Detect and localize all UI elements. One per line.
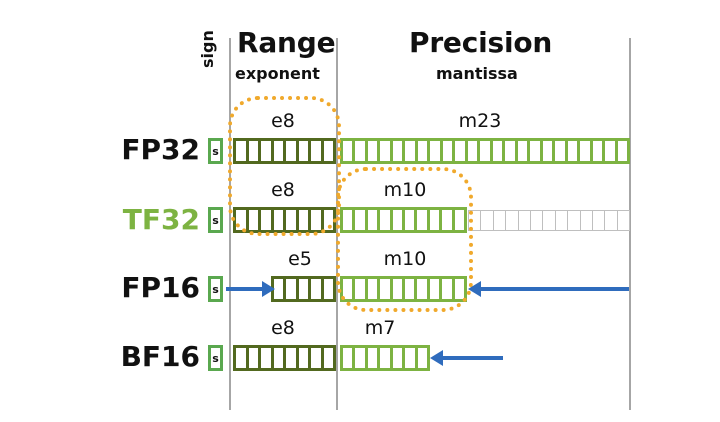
- bit-cell: [343, 348, 355, 368]
- bit-cell: [380, 210, 392, 230]
- sign-bit-fp16: s: [208, 276, 223, 302]
- bit-cell: [343, 210, 355, 230]
- bit-cell: [455, 141, 467, 161]
- sign-column-header: sign: [198, 12, 217, 68]
- mantissa-subheader: mantissa: [436, 64, 518, 83]
- bit-cell: [286, 279, 298, 299]
- mantissa-strip-bf16: [340, 345, 430, 371]
- bit-cell: [580, 141, 592, 161]
- bit-cell: [405, 348, 417, 368]
- row-label-tf32: TF32: [92, 203, 200, 236]
- sign-bit-bf16: s: [208, 345, 223, 371]
- field-label-tf32-exponent: e8: [233, 179, 333, 201]
- bit-cell: [368, 210, 380, 230]
- bit-cell: [274, 210, 287, 230]
- bit-cell: [299, 348, 312, 368]
- row-label-bf16: BF16: [92, 340, 200, 373]
- row-label-fp32: FP32: [92, 133, 200, 166]
- bit-cell: [324, 279, 336, 299]
- arrow-head-bf16-mantissa: [430, 350, 443, 366]
- bit-cell: [355, 141, 367, 161]
- bit-cell: [286, 348, 299, 368]
- bit-cell: [355, 279, 367, 299]
- bit-cell: [299, 279, 311, 299]
- bit-cell: [343, 141, 355, 161]
- bit-cell: [405, 141, 417, 161]
- bit-cell: [355, 210, 367, 230]
- bit-cell: [442, 210, 454, 230]
- field-label-tf32-mantissa: m10: [355, 179, 455, 201]
- bit-cell: [393, 210, 405, 230]
- bit-cell: [593, 141, 605, 161]
- column-divider-range-precision: [336, 38, 338, 410]
- bit-cell: [568, 211, 580, 230]
- bit-cell: [618, 141, 630, 161]
- field-label-fp16-exponent: e5: [250, 248, 350, 270]
- exponent-strip-fp32: [233, 138, 336, 164]
- bit-cell: [556, 211, 568, 230]
- field-label-bf16-exponent: e8: [233, 317, 333, 339]
- field-label-fp32-exponent: e8: [233, 110, 333, 132]
- bit-cell: [368, 348, 380, 368]
- exponent-strip-tf32: [233, 207, 336, 233]
- bit-cell: [519, 211, 531, 230]
- bit-cell: [430, 279, 442, 299]
- bit-cell: [380, 348, 392, 368]
- mantissa-strip-tf32: [340, 207, 467, 233]
- bit-cell: [618, 211, 630, 230]
- bit-cell: [543, 141, 555, 161]
- arrow-line-fp16-exponent: [226, 287, 264, 291]
- bit-cell: [405, 279, 417, 299]
- sign-bit-fp32: s: [208, 138, 223, 164]
- bit-cell: [261, 348, 274, 368]
- bit-cell: [405, 210, 417, 230]
- bit-cell: [393, 279, 405, 299]
- bit-cell: [480, 141, 492, 161]
- bit-cell: [299, 141, 312, 161]
- bit-cell: [442, 279, 454, 299]
- bit-cell: [311, 141, 324, 161]
- bit-cell: [530, 141, 542, 161]
- bit-cell: [494, 211, 506, 230]
- bit-cell: [543, 211, 555, 230]
- bit-cell: [274, 348, 287, 368]
- arrow-head-fp16-mantissa: [468, 281, 481, 297]
- bit-cell: [380, 279, 392, 299]
- bit-cell: [261, 141, 274, 161]
- bit-cell: [324, 141, 337, 161]
- bit-cell: [249, 348, 262, 368]
- bit-cell: [274, 141, 287, 161]
- bit-cell: [236, 348, 249, 368]
- field-label-fp32-mantissa: m23: [430, 110, 530, 132]
- bit-cell: [506, 211, 518, 230]
- precision-header: Precision: [409, 26, 552, 59]
- field-label-fp16-mantissa: m10: [355, 248, 455, 270]
- bit-cell: [518, 141, 530, 161]
- bit-cell: [249, 210, 262, 230]
- bit-cell: [468, 141, 480, 161]
- bit-cell: [418, 141, 430, 161]
- exponent-strip-bf16: [233, 345, 336, 371]
- bit-cell: [417, 279, 429, 299]
- bit-cell: [324, 210, 337, 230]
- range-header: Range: [237, 26, 335, 59]
- row-label-fp16: FP16: [92, 271, 200, 304]
- bit-cell: [443, 141, 455, 161]
- mantissa-strip-fp32: [340, 138, 630, 164]
- arrow-line-bf16-mantissa: [443, 356, 503, 360]
- bit-cell: [380, 141, 392, 161]
- bit-cell: [455, 279, 467, 299]
- bit-cell: [531, 211, 543, 230]
- bit-cell: [493, 141, 505, 161]
- bit-cell: [355, 348, 367, 368]
- bit-cell: [236, 210, 249, 230]
- bit-cell: [368, 141, 380, 161]
- bit-cell: [417, 210, 429, 230]
- bit-cell: [393, 348, 405, 368]
- unused-mantissa-strip-tf32: [468, 210, 630, 231]
- field-label-bf16-mantissa: m7: [340, 317, 420, 339]
- bit-cell: [261, 210, 274, 230]
- bit-cell: [249, 141, 262, 161]
- bit-cell: [343, 279, 355, 299]
- bit-cell: [311, 279, 323, 299]
- bit-cell: [605, 141, 617, 161]
- bit-cell: [274, 279, 286, 299]
- bit-cell: [505, 141, 517, 161]
- bit-cell: [286, 210, 299, 230]
- bit-cell: [393, 141, 405, 161]
- bit-cell: [555, 141, 567, 161]
- bit-cell: [311, 210, 324, 230]
- arrow-line-fp16-mantissa: [481, 287, 629, 291]
- bit-cell: [368, 279, 380, 299]
- arrow-head-fp16-exponent: [262, 281, 275, 297]
- column-divider-sign-range: [229, 38, 231, 410]
- sign-bit-tf32: s: [208, 207, 223, 233]
- bit-cell: [418, 348, 430, 368]
- bit-cell: [311, 348, 324, 368]
- bit-cell: [299, 210, 312, 230]
- exponent-subheader: exponent: [235, 64, 320, 83]
- bit-cell: [481, 211, 493, 230]
- bit-cell: [455, 210, 467, 230]
- bit-cell: [593, 211, 605, 230]
- bit-cell: [469, 211, 481, 230]
- exponent-strip-fp16: [271, 276, 336, 302]
- bit-cell: [236, 141, 249, 161]
- bit-cell: [324, 348, 337, 368]
- bit-cell: [430, 141, 442, 161]
- bit-cell: [430, 210, 442, 230]
- bit-cell: [581, 211, 593, 230]
- tensor-float-format-diagram: sign Range exponent Precision mantissa F…: [0, 0, 720, 422]
- mantissa-strip-fp16: [340, 276, 467, 302]
- bit-cell: [286, 141, 299, 161]
- bit-cell: [568, 141, 580, 161]
- bit-cell: [605, 211, 617, 230]
